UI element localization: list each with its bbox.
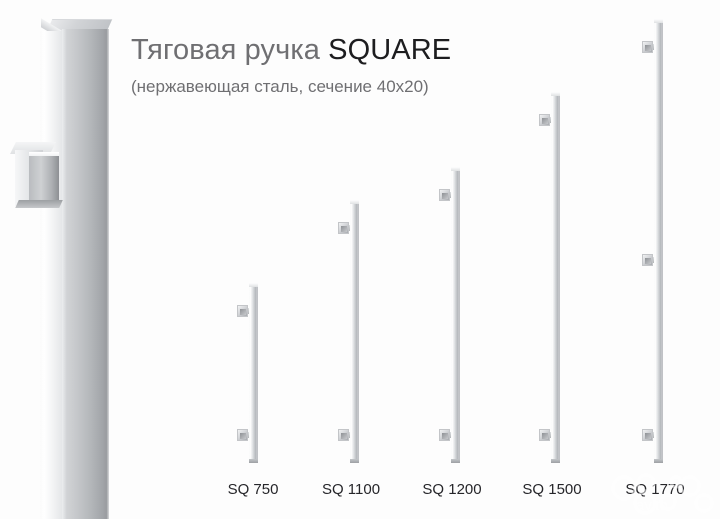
page-title-prefix: Тяговая ручка bbox=[131, 34, 328, 66]
mounting-bracket bbox=[338, 429, 349, 441]
hero-mounting-bracket bbox=[13, 142, 65, 208]
handle-top-cap bbox=[654, 19, 663, 23]
handle-bottom-cap bbox=[451, 459, 460, 463]
handle-bottom-cap bbox=[551, 459, 560, 463]
mounting-bracket bbox=[642, 41, 653, 53]
page-subtitle: (нержавеющая сталь, сечение 40x20) bbox=[131, 76, 611, 97]
handle-bar bbox=[451, 167, 460, 463]
mounting-bracket bbox=[539, 114, 550, 126]
mounting-bracket bbox=[642, 429, 653, 441]
title-block: Тяговая ручка SQUARE (нержавеющая сталь,… bbox=[131, 33, 611, 97]
handle-top-cap bbox=[551, 92, 560, 96]
handle-bar bbox=[654, 19, 663, 463]
product-caption: SQ 1200 bbox=[407, 481, 497, 498]
hero-handle-edge-shadow bbox=[106, 29, 109, 519]
hero-handle bbox=[0, 0, 130, 519]
product-caption: SQ 1100 bbox=[306, 481, 396, 498]
product-handle bbox=[654, 19, 663, 463]
handle-bottom-cap bbox=[654, 459, 663, 463]
avito-watermark-icon: avito bbox=[606, 472, 720, 516]
svg-text:avito: avito bbox=[636, 497, 668, 514]
handle-bar bbox=[350, 200, 359, 463]
product-handle bbox=[451, 167, 460, 463]
mounting-bracket bbox=[539, 429, 550, 441]
mounting-bracket bbox=[439, 429, 450, 441]
page-title-accent: SQUARE bbox=[328, 34, 451, 66]
handle-bar bbox=[551, 92, 560, 463]
mounting-bracket bbox=[439, 189, 450, 201]
hero-handle-highlight bbox=[62, 29, 67, 519]
mounting-bracket bbox=[642, 254, 653, 266]
handle-bottom-cap bbox=[350, 459, 359, 463]
hero-handle-left-face bbox=[40, 31, 63, 519]
page-title: Тяговая ручка SQUARE bbox=[131, 33, 611, 67]
product-handle bbox=[350, 200, 359, 463]
avito-watermark: avito bbox=[606, 472, 720, 516]
product-caption: SQ 1500 bbox=[507, 481, 597, 498]
mounting-bracket bbox=[338, 222, 349, 234]
product-image-canvas: Тяговая ручка SQUARE (нержавеющая сталь,… bbox=[0, 0, 720, 519]
bracket-bottom-face bbox=[15, 200, 63, 208]
mounting-bracket bbox=[237, 305, 248, 317]
handle-top-cap bbox=[350, 200, 359, 204]
handle-top-cap bbox=[249, 283, 258, 287]
handle-bottom-cap bbox=[249, 459, 258, 463]
handle-bar bbox=[249, 283, 258, 463]
product-caption: SQ 750 bbox=[211, 481, 295, 498]
hero-handle-front-face bbox=[62, 29, 108, 519]
mounting-bracket bbox=[237, 429, 248, 441]
product-handle bbox=[249, 283, 258, 463]
product-handle bbox=[551, 92, 560, 463]
handle-top-cap bbox=[451, 167, 460, 171]
bracket-stem bbox=[29, 156, 59, 200]
